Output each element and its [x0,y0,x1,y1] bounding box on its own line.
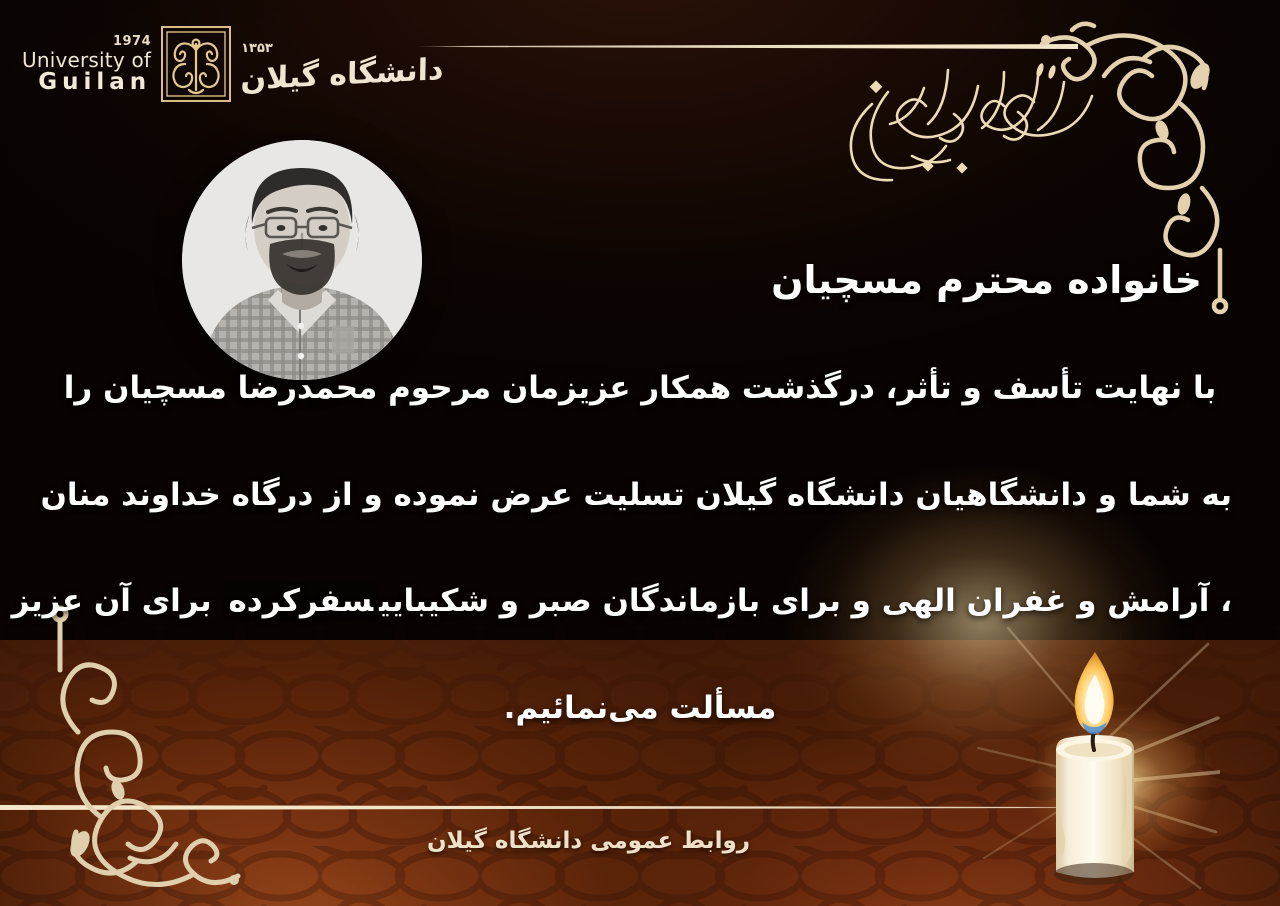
lit-candle-icon [970,622,1220,906]
condolence-banner: 1974 University of Guilan ۱۳۵۳ [0,0,1280,906]
logo-name-line1: University of [22,50,151,70]
islamic-calligraphy [828,52,1108,192]
logo-english-text: 1974 University of Guilan [22,35,151,94]
message-line-3-highlight: سفرکرده [223,581,380,621]
message-line-2: به شما و دانشگاهیان دانشگاه گیلان تسلیت … [48,479,1232,512]
logo-persian-text: ۱۳۵۳ دانشگاه گیلان [241,41,443,87]
message-line-3-before: برای آن عزیز [12,583,212,619]
university-logo: 1974 University of Guilan ۱۳۵۳ [22,24,444,104]
logo-year-persian: ۱۳۵۳ [241,41,273,56]
logo-name-line2: Guilan [38,71,151,94]
message-line-3: ، آرامش و غفران الهی و برای بازماندگان ص… [48,585,1232,618]
logo-name-persian: دانشگاه گیلان [240,52,443,98]
page-title: خانواده محترم مسچیان [771,258,1202,302]
logo-year-gregorian: 1974 [113,35,151,48]
deceased-portrait [182,140,422,380]
footer-credit: روابط عمومی دانشگاه گیلان [427,828,750,854]
guilan-university-emblem-icon [159,24,233,104]
message-line-3-after: ، آرامش و غفران الهی و برای بازماندگان ص… [379,583,1232,619]
message-line-1: با نهایت تأسف و تأثر، درگذشت همکار عزیزم… [48,372,1232,405]
